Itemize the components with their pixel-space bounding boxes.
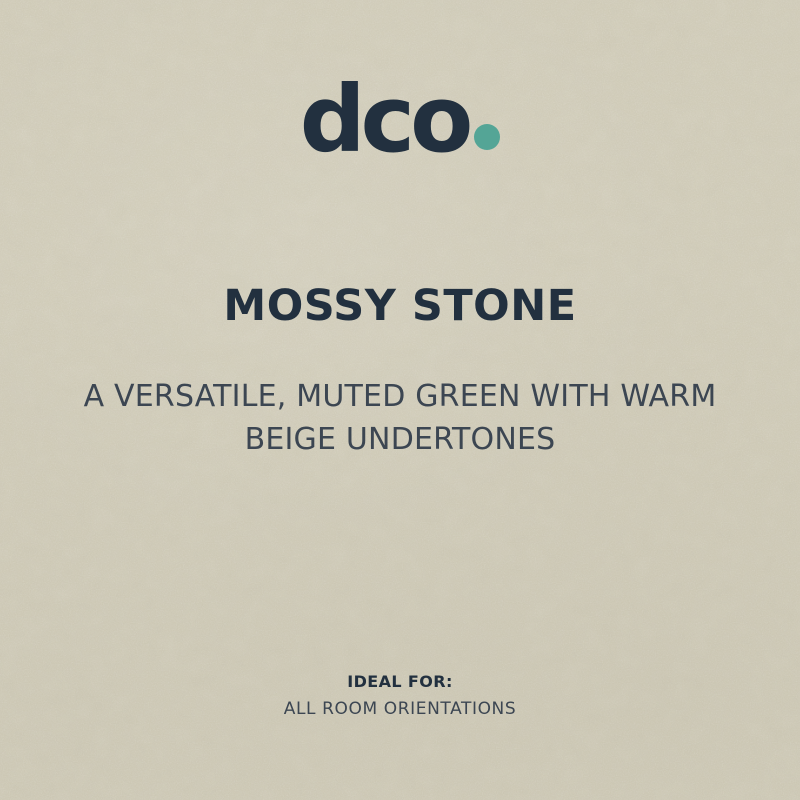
- ideal-for-label: IDEAL FOR:: [0, 670, 800, 693]
- ideal-for-value: ALL ROOM ORIENTATIONS: [0, 697, 800, 723]
- brand-dot-icon: [474, 124, 500, 150]
- card-content: dco MOSSY STONE A VERSATILE, MUTED GREEN…: [0, 0, 800, 800]
- brand-logo: dco: [0, 84, 800, 156]
- colour-name: MOSSY STONE: [0, 283, 800, 330]
- colour-description: A VERSATILE, MUTED GREEN WITH WARM BEIGE…: [50, 376, 750, 461]
- brand-wordmark: dco: [300, 84, 469, 156]
- paint-colour-swatch-card: dco MOSSY STONE A VERSATILE, MUTED GREEN…: [0, 0, 800, 800]
- ideal-for-block: IDEAL FOR: ALL ROOM ORIENTATIONS: [0, 670, 800, 722]
